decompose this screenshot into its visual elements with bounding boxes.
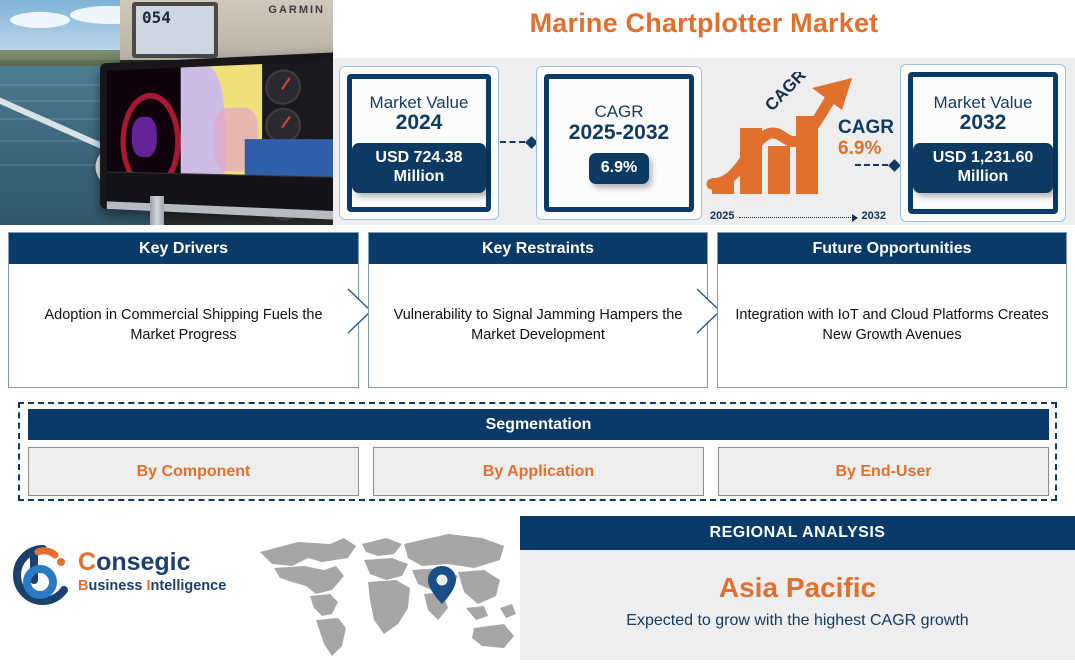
panel-future-opportunities: Future Opportunities Integration with Io… bbox=[717, 232, 1067, 388]
panel-heading: Key Drivers bbox=[9, 233, 358, 264]
diamond-icon bbox=[888, 159, 901, 172]
stat-value: 6.9% bbox=[589, 153, 649, 184]
stat-box-cagr: CAGR 2025-2032 6.9% bbox=[536, 66, 702, 220]
cagr-side-readout: CAGR 6.9% bbox=[838, 118, 894, 161]
logo-name-rest: onsegic bbox=[96, 548, 190, 576]
consegic-mark-icon bbox=[10, 542, 74, 608]
world-map bbox=[252, 524, 520, 660]
chartplotter-screen bbox=[100, 52, 333, 221]
top-section: GARMIN 054 bbox=[0, 0, 1075, 225]
panel-text: Adoption in Commercial Shipping Fuels th… bbox=[23, 306, 344, 345]
stat-label: Market Value bbox=[370, 93, 469, 113]
compass-display: 054 bbox=[132, 2, 218, 58]
stat-label: CAGR bbox=[594, 102, 643, 122]
mount-pole bbox=[150, 196, 164, 225]
regional-name: Asia Pacific bbox=[520, 572, 1075, 604]
regional-analysis-box: REGIONAL ANALYSIS Asia Pacific Expected … bbox=[520, 516, 1075, 660]
panel-key-drivers: Key Drivers Adoption in Commercial Shipp… bbox=[8, 232, 359, 388]
stat-year: 2032 bbox=[960, 111, 1007, 135]
segment-by-end-user[interactable]: By End-User bbox=[718, 447, 1049, 496]
hero-photo: GARMIN 054 bbox=[0, 0, 333, 225]
page-title: Marine Chartplotter Market bbox=[333, 8, 1075, 39]
segmentation-row: By Component By Application By End-User bbox=[28, 447, 1049, 496]
compass-heading: 054 bbox=[142, 8, 171, 27]
segment-by-application[interactable]: By Application bbox=[373, 447, 704, 496]
cloud bbox=[10, 12, 70, 28]
logo-tagline-usiness: usiness bbox=[88, 578, 146, 594]
segmentation-heading: Segmentation bbox=[28, 409, 1049, 440]
logo-wordmark: Consegic Business Intelligence bbox=[78, 550, 226, 595]
stat-box-market-value-2032: Market Value 2032 USD 1,231.60 Million bbox=[900, 64, 1066, 222]
panel-key-restraints: Key Restraints Vulnerability to Signal J… bbox=[368, 232, 708, 388]
panel-text: Vulnerability to Signal Jamming Hampers … bbox=[383, 306, 693, 345]
world-map-svg bbox=[252, 524, 520, 660]
cagr-arrow-label: CAGR bbox=[761, 72, 809, 115]
logo-tagline-ntelligence: ntelligence bbox=[151, 578, 227, 594]
logo-tagline-b: B bbox=[78, 578, 88, 594]
regional-analysis-heading: REGIONAL ANALYSIS bbox=[520, 516, 1075, 550]
panel-heading: Key Restraints bbox=[369, 233, 707, 264]
axis-arrow-icon bbox=[739, 217, 856, 218]
stat-box-market-value-2024: Market Value 2024 USD 724.38 Million bbox=[339, 66, 499, 220]
sonar-pane bbox=[245, 139, 333, 178]
panel-text: Integration with IoT and Cloud Platforms… bbox=[732, 306, 1052, 345]
cagr-growth-chart: CAGR CAGR 6.9% 2025 2032 bbox=[706, 72, 896, 220]
company-logo[interactable]: Consegic Business Intelligence bbox=[10, 542, 242, 626]
regional-subtitle: Expected to grow with the highest CAGR g… bbox=[520, 612, 1075, 630]
logo-name-initial: C bbox=[78, 548, 96, 576]
infographic-page: GARMIN 054 bbox=[0, 0, 1075, 660]
connector-dashed bbox=[855, 158, 899, 172]
panel-heading: Future Opportunities bbox=[718, 233, 1066, 264]
stat-year: 2025-2032 bbox=[569, 121, 669, 145]
axis-start-year: 2025 bbox=[710, 210, 734, 222]
connector-dashed bbox=[500, 135, 536, 149]
cagr-side-label: CAGR bbox=[838, 118, 894, 137]
stat-value: USD 724.38 Million bbox=[352, 143, 486, 193]
chart-axis-years: 2025 2032 bbox=[710, 210, 886, 222]
stat-year: 2024 bbox=[396, 111, 443, 135]
gauge-icon bbox=[265, 69, 301, 105]
brand-label: GARMIN bbox=[268, 4, 325, 16]
stat-value: USD 1,231.60 Million bbox=[913, 143, 1053, 193]
stat-label: Market Value bbox=[934, 93, 1033, 113]
segmentation-section: Segmentation By Component By Application… bbox=[18, 402, 1057, 501]
axis-end-year: 2032 bbox=[862, 210, 886, 222]
segment-by-component[interactable]: By Component bbox=[28, 447, 359, 496]
